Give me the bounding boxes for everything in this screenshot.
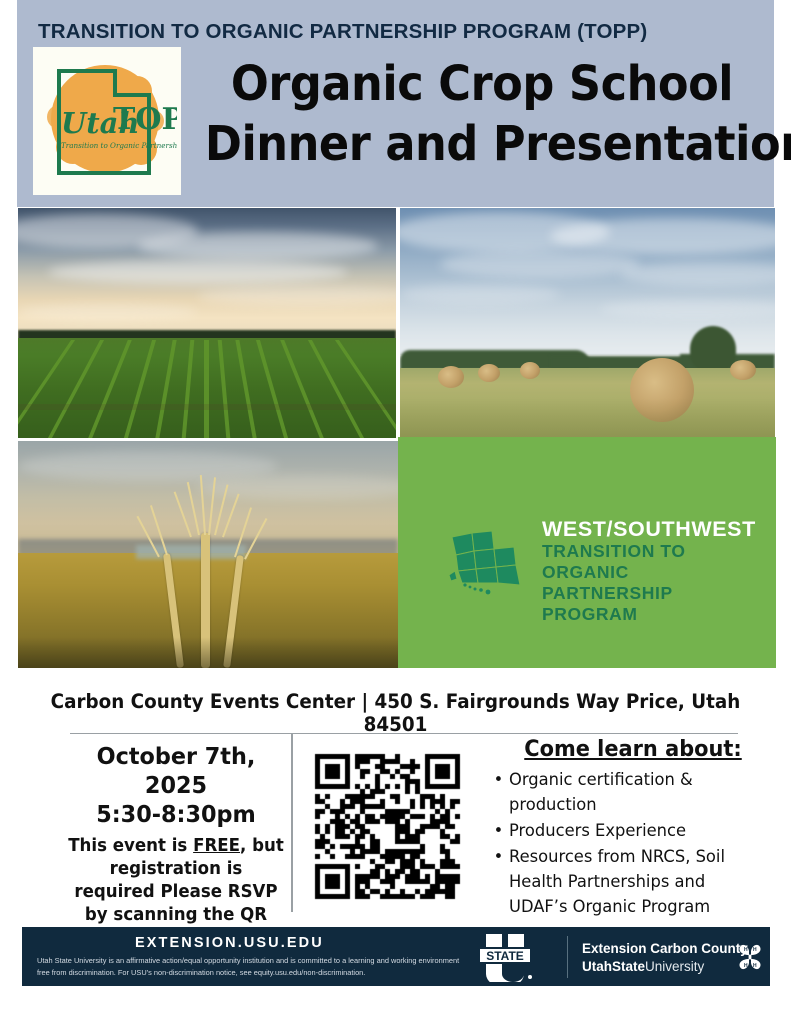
svg-text:H: H [753,963,757,969]
footer-brand: Extension Carbon County UtahStateUnivers… [582,940,748,976]
extension-url[interactable]: EXTENSION.USU.EDU [135,935,324,951]
utah-topp-logo-icon: Utah TOPP Transition to Organic Partners… [37,51,177,191]
footer-bar: EXTENSION.USU.EDU Utah State University … [22,927,770,986]
come-learn-about-section: Come learn about: Organic certification … [487,737,779,921]
western-states-map-icon [448,527,528,597]
rsvp-qr-code[interactable] [305,749,471,905]
event-time: 5:30-8:30pm [68,800,285,829]
usu-block-u-state-logo: STATE [474,932,552,982]
svg-text:H: H [744,963,748,969]
learn-topic-item: Resources from NRCS, Soil Health Partner… [509,845,768,920]
title-line-2: Dinner and Presentation [205,114,759,174]
venue-address: Carbon County Events Center | 450 S. Fai… [24,690,768,736]
event-date: October 7th, 2025 [68,742,285,800]
wheat-stalks-golden-field-photo [18,441,398,668]
ws-logo-line-1: WEST/SOUTHWEST [542,517,768,541]
hay-bales-in-field-photo [400,208,775,438]
nondiscrimination-disclaimer: Utah State University is an affirmative … [37,955,462,978]
learn-topic-item: Producers Experience [509,819,768,844]
county-line: Extension Carbon County [582,940,748,958]
program-kicker: TRANSITION TO ORGANIC PARTNERSHIP PROGRA… [38,20,768,44]
svg-text:H: H [744,947,748,953]
svg-text:Transition to Organic Partners: Transition to Organic Partnership Progra… [61,141,177,150]
title-line-1: Organic Crop School [205,54,759,114]
flyer-title: Organic Crop School Dinner and Presentat… [184,54,780,174]
four-h-clover-icon: HH HH [734,941,766,973]
event-details: October 7th, 2025 5:30-8:30pm This event… [62,742,290,950]
svg-text:H: H [753,947,757,953]
west-southwest-topp-panel: WEST/SOUTHWEST TRANSITION TO ORGANIC PAR… [398,437,776,668]
rsvp-qr-code-canvas[interactable] [305,749,471,905]
section-divider-vertical [291,734,293,912]
free-word: FREE [193,836,240,856]
learn-topic-item: Organic certification & production [509,768,768,818]
free-suffix: , but [240,836,284,856]
footer-divider [567,936,568,978]
come-learn-about-heading: Come learn about: [494,737,771,762]
section-divider-horizontal [70,733,738,734]
corn-crop-rows-at-sunset-photo [18,208,396,438]
ws-logo-line-2: TRANSITION TO ORGANIC [542,541,768,583]
brand-bold: UtahState [582,959,645,974]
free-prefix: This event is [68,836,193,856]
ws-logo-line-3: PARTNERSHIP PROGRAM [542,583,768,625]
utah-topp-logo: Utah TOPP Transition to Organic Partners… [33,47,181,195]
svg-text:STATE: STATE [486,949,524,963]
university-brand: UtahStateUniversity [582,958,748,976]
brand-light: University [645,959,704,974]
svg-text:TOPP: TOPP [113,102,177,137]
photo-collage: WEST/SOUTHWEST TRANSITION TO ORGANIC PAR… [18,207,775,668]
learn-topics-list: Organic certification & productionProduc… [487,768,779,920]
